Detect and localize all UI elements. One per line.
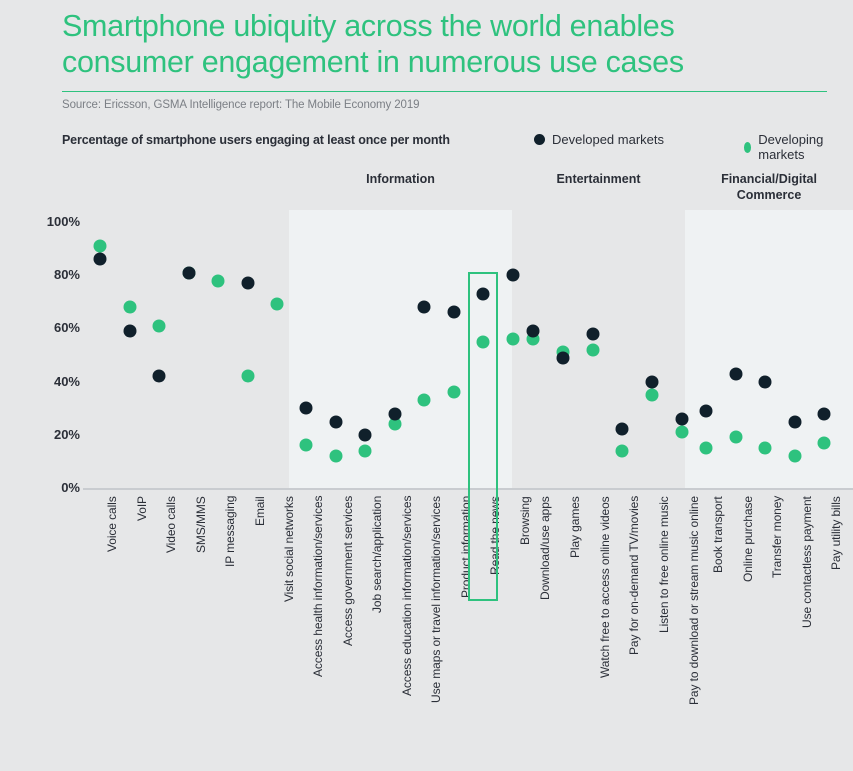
scatter-chart: InformationEntertainmentFinancial/Digita… [0, 0, 853, 771]
group-header-3: Financial/Digital Commerce [685, 171, 853, 203]
data-point [447, 306, 460, 319]
data-point [329, 415, 342, 428]
data-point [477, 287, 490, 300]
x-axis-label: Transfer money [770, 496, 784, 578]
x-axis-label: Online purchase [741, 496, 755, 582]
data-point [729, 367, 742, 380]
group-band [289, 210, 512, 488]
data-point [94, 253, 107, 266]
x-axis-label: Visit social networks [282, 496, 296, 602]
data-point [359, 428, 372, 441]
x-axis-label: Download/use apps [538, 496, 552, 600]
x-axis-label: Voice calls [105, 496, 119, 552]
data-point [676, 426, 689, 439]
x-axis-line [83, 488, 853, 490]
data-point [527, 325, 540, 338]
data-point [153, 370, 166, 383]
data-point [759, 375, 772, 388]
x-axis-label: Product information [459, 496, 473, 598]
data-point [271, 298, 284, 311]
group-header-1: Information [289, 171, 512, 187]
data-point [329, 450, 342, 463]
data-point [94, 239, 107, 252]
data-point [818, 436, 831, 449]
data-point [359, 444, 372, 457]
x-axis-label: Book transport [711, 496, 725, 573]
x-axis-label: Watch free to access online videos [598, 496, 612, 678]
data-point [729, 431, 742, 444]
y-axis-tick-label: 60% [28, 320, 80, 335]
data-point [646, 388, 659, 401]
x-axis-label: Use contactless payment [800, 496, 814, 628]
x-axis-label: Pay utility bills [829, 496, 843, 570]
x-axis-label: Access government services [341, 496, 355, 646]
x-axis-label: SMS/MMS [194, 496, 208, 553]
x-axis-label: Access health information/services [311, 496, 325, 677]
x-axis-label: Pay to download or stream music online [687, 496, 701, 705]
data-point [153, 319, 166, 332]
data-point [788, 415, 801, 428]
x-axis-label: Use maps or travel information/services [429, 496, 443, 703]
data-point [182, 266, 195, 279]
data-point [616, 444, 629, 457]
y-axis-tick-label: 80% [28, 267, 80, 282]
data-point [300, 402, 313, 415]
x-axis-label: Video calls [164, 496, 178, 553]
data-point [447, 386, 460, 399]
data-point [556, 351, 569, 364]
data-point [212, 274, 225, 287]
y-axis-tick-label: 100% [28, 214, 80, 229]
x-axis-label: Pay for on-demand TV/movies [627, 496, 641, 655]
data-point [676, 412, 689, 425]
data-point [477, 335, 490, 348]
data-point [586, 327, 599, 340]
data-point [123, 325, 136, 338]
data-point [586, 343, 599, 356]
x-axis-label: Listen to free online music [657, 496, 671, 633]
data-point [418, 301, 431, 314]
data-point [646, 375, 659, 388]
y-axis-tick-label: 40% [28, 374, 80, 389]
data-point [388, 407, 401, 420]
data-point [300, 439, 313, 452]
x-axis-label: Browsing [518, 496, 532, 545]
y-axis: 0%20%40%60%80%100% [28, 0, 80, 771]
data-point [759, 442, 772, 455]
x-axis-label: Job search/application [370, 496, 384, 613]
data-point [506, 269, 519, 282]
x-axis-label: Play games [568, 496, 582, 558]
group-header-2: Entertainment [512, 171, 685, 187]
data-point [506, 333, 519, 346]
y-axis-tick-label: 20% [28, 427, 80, 442]
data-point [123, 301, 136, 314]
data-point [616, 423, 629, 436]
data-point [788, 450, 801, 463]
x-axis-label: Email [253, 496, 267, 526]
data-point [241, 370, 254, 383]
data-point [700, 404, 713, 417]
data-point [241, 277, 254, 290]
data-point [700, 442, 713, 455]
x-axis-label: Read the news [488, 496, 502, 575]
x-axis-label: VoIP [135, 496, 149, 521]
y-axis-tick-label: 0% [28, 480, 80, 495]
x-axis-label: IP messaging [223, 496, 237, 567]
data-point [418, 394, 431, 407]
x-axis-label: Access education information/services [400, 496, 414, 696]
data-point [818, 407, 831, 420]
